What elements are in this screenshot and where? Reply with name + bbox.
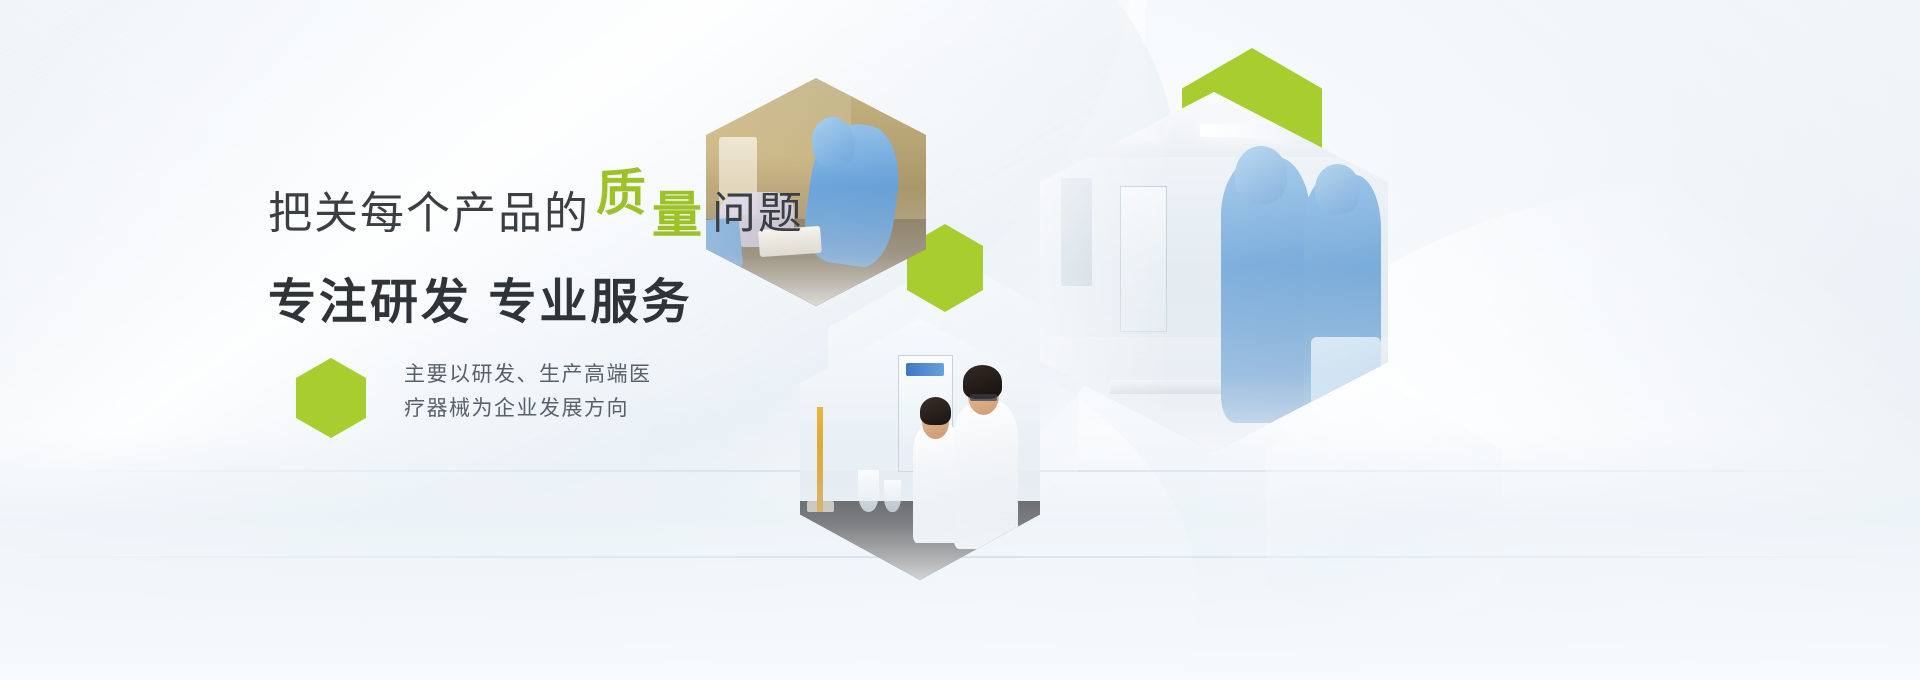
headline-line-1-part-2: 问题 <box>712 192 804 236</box>
hero-banner: 把关每个产品的 质 量 问题 专注研发 专业服务 主要以研发、生产高端医 疗器械… <box>0 0 1920 680</box>
hexagon-accent-subtitle <box>296 358 366 438</box>
headline-highlight-liang: 量 <box>652 190 704 240</box>
headline-line-2: 专注研发 专业服务 <box>268 262 788 332</box>
subtitle-line-2: 疗器械为企业发展方向 <box>404 392 652 426</box>
photo-hexagon-cleanroom-corridor-workers <box>1040 92 1388 452</box>
banner-subtitle: 主要以研发、生产高端医 疗器械为企业发展方向 <box>404 358 652 426</box>
headline-line-1-part-1: 把关每个产品的 <box>268 192 590 236</box>
banner-copy: 把关每个产品的 质 量 问题 专注研发 专业服务 <box>268 186 788 332</box>
photo-fade-overlay-left <box>1040 92 1388 452</box>
headline-highlight-zhi: 质 <box>596 168 648 218</box>
subtitle-line-1: 主要以研发、生产高端医 <box>404 358 652 392</box>
headline-line-1: 把关每个产品的 质 量 问题 <box>268 186 788 236</box>
